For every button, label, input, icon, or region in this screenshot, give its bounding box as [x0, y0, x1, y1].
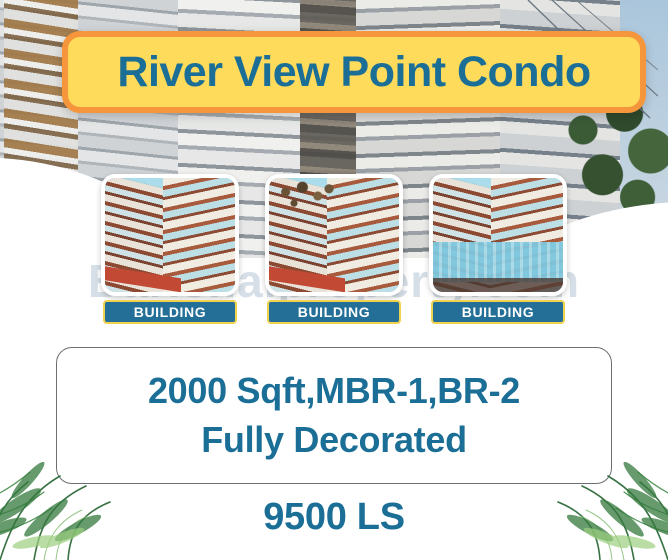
thumbnail-item[interactable]: BUILDING [101, 174, 239, 324]
thumbnail-item[interactable]: BUILDING [429, 174, 567, 324]
thumbnail-caption-label: BUILDING [462, 305, 534, 319]
thumbnail-gallery: BUILDING BUILDING [0, 174, 668, 324]
thumbnail-photo-2[interactable] [265, 174, 403, 296]
page-title: River View Point Condo [117, 51, 590, 94]
thumb-glass-facade [433, 242, 567, 282]
thumbnail-caption: BUILDING [431, 300, 565, 324]
thumbnail-caption: BUILDING [103, 300, 237, 324]
thumbnail-photo-3[interactable] [429, 174, 567, 296]
thumbnail-caption-label: BUILDING [298, 305, 370, 319]
thumbnail-item[interactable]: BUILDING [265, 174, 403, 324]
thumbnail-caption: BUILDING [267, 300, 401, 324]
tree-branch-icon [273, 180, 343, 220]
spec-line-condition: Fully Decorated [201, 419, 467, 461]
thumb-ground-floor [433, 278, 567, 292]
title-banner: River View Point Condo [62, 31, 646, 113]
property-ad-poster: River View Point Condo Barishalproperty.… [0, 0, 668, 560]
price-text: 9500 LS [0, 498, 668, 536]
thumbnail-photo-1[interactable] [101, 174, 239, 296]
spec-line-size-rooms: 2000 Sqft,MBR-1,BR-2 [148, 370, 520, 412]
thumbnail-caption-label: BUILDING [134, 305, 206, 319]
specifications-card: 2000 Sqft,MBR-1,BR-2 Fully Decorated [56, 347, 612, 484]
